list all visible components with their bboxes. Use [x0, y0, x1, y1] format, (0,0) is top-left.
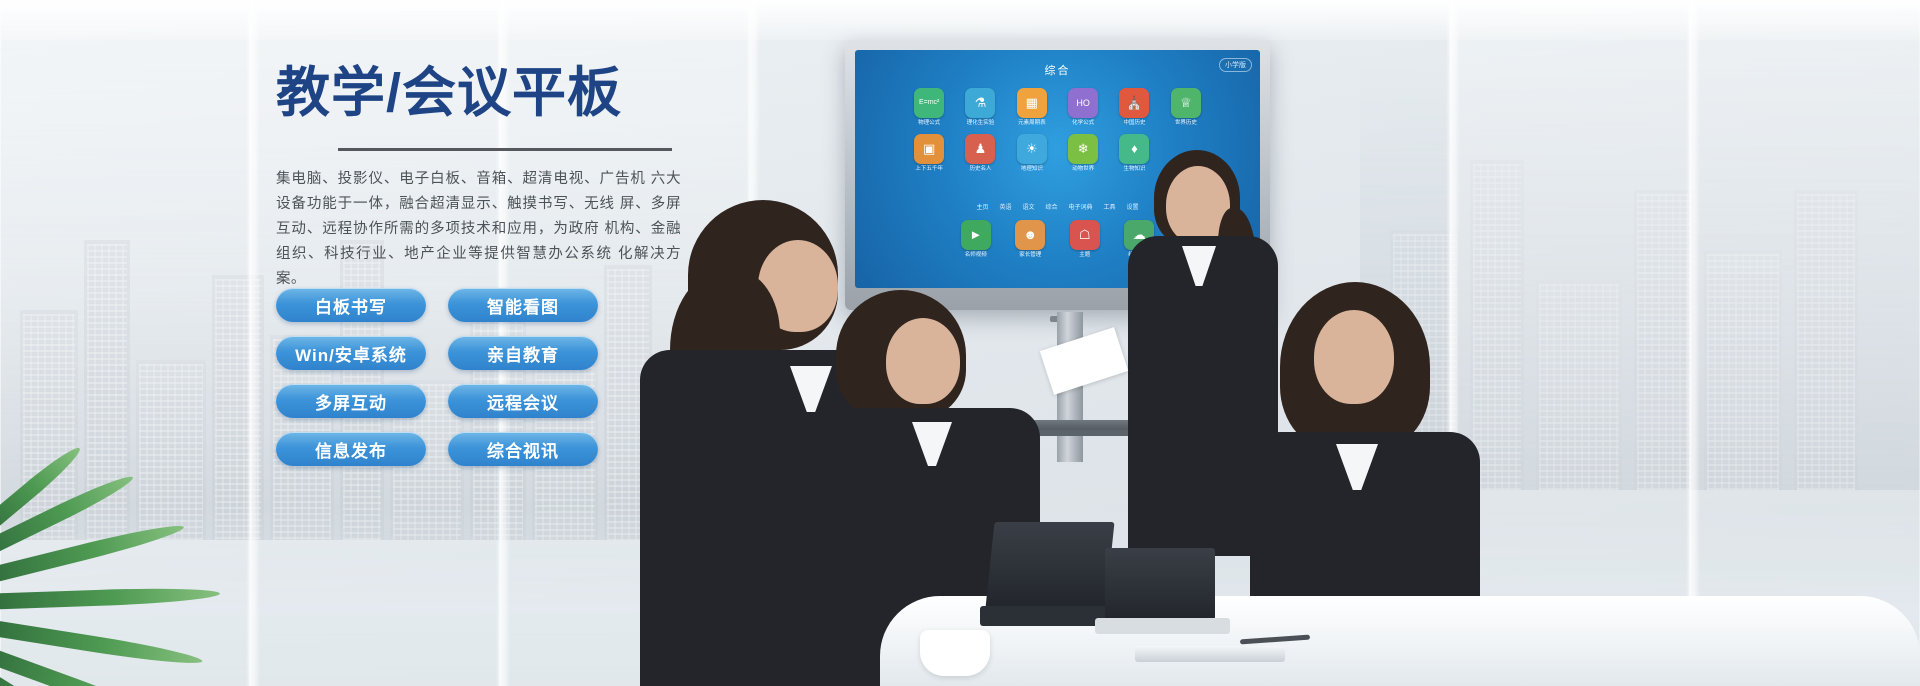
- app-icon-geography: ☀: [1017, 134, 1047, 164]
- feature-button-parent-education[interactable]: 亲自教育: [448, 336, 598, 370]
- coffee-cup: [920, 630, 990, 676]
- laptop-1: [985, 522, 1114, 608]
- page-title: 教学/会议平板: [276, 62, 696, 126]
- app-tile[interactable]: ❄ 动物世界: [1061, 134, 1104, 173]
- hero-text-block: 教学/会议平板 集电脑、投影仪、电子白板、音箱、超清电视、广告机 六大设备功能于…: [276, 62, 696, 292]
- app-label: 动物世界: [1061, 166, 1104, 173]
- feature-button-whiteboard-writing[interactable]: 白板书写: [276, 288, 426, 322]
- app-tile[interactable]: ⚗ 理化生实验: [959, 88, 1002, 127]
- app-tile[interactable]: ⛪ 中国历史: [1113, 88, 1156, 127]
- subnav-item-chinese[interactable]: 语文: [1022, 202, 1034, 211]
- app-tile[interactable]: ♟ 历史名人: [959, 134, 1002, 173]
- feature-button-remote-meeting[interactable]: 远程会议: [448, 384, 598, 418]
- app-icon-science-lab: ⚗: [965, 88, 995, 118]
- app-label: 元素周期表: [1010, 120, 1053, 127]
- app-icon-parent-control: ☻: [1015, 220, 1045, 250]
- foliage-plant: [0, 446, 300, 686]
- screen-version-badge: 小学版: [1219, 58, 1252, 72]
- notebook: [1135, 646, 1285, 662]
- feature-button-integrated-video[interactable]: 综合视讯: [448, 432, 598, 466]
- app-label: 化学公式: [1061, 120, 1104, 127]
- app-icon-chemistry-formula: HO: [1068, 88, 1098, 118]
- feature-button-win-android-os[interactable]: Win/安卓系统: [276, 336, 426, 370]
- app-icon-historical-figures: ♟: [965, 134, 995, 164]
- screen-title: 综合: [855, 62, 1260, 78]
- app-icon-physics-formula: E=mc²: [914, 88, 944, 118]
- app-icon-animal-world: ❄: [1068, 134, 1098, 164]
- app-label: 理化生实验: [959, 120, 1002, 127]
- glass-panel: [1690, 0, 1920, 686]
- app-icon-teacher-video: ►: [961, 220, 991, 250]
- feature-button-multiscreen[interactable]: 多屏互动: [276, 384, 426, 418]
- app-tile[interactable]: ▦ 元素周期表: [1010, 88, 1053, 127]
- app-tile[interactable]: HO 化学公式: [1061, 88, 1104, 127]
- glass-panel: [1450, 0, 1690, 686]
- app-tile[interactable]: ▣ 上下五千年: [908, 134, 951, 173]
- app-icon-theme: ☖: [1070, 220, 1100, 250]
- app-label: 世界历史: [1164, 120, 1207, 127]
- subnav-item-dictionary[interactable]: 电子词典: [1069, 202, 1093, 211]
- app-label: 地理知识: [1010, 166, 1053, 173]
- app-tile[interactable]: ☻ 家长管理: [1007, 220, 1054, 259]
- app-label: 中国历史: [1113, 120, 1156, 127]
- feature-button-grid[interactable]: 白板书写 智能看图 Win/安卓系统 亲自教育 多屏互动 远程会议 信息发布 综…: [276, 288, 598, 466]
- app-icon-world-history: ♕: [1171, 88, 1201, 118]
- app-tile[interactable]: E=mc² 物理公式: [908, 88, 951, 127]
- app-label: 家长管理: [1007, 252, 1054, 259]
- feature-button-info-publishing[interactable]: 信息发布: [276, 432, 426, 466]
- app-icon-periodic-table: ▦: [1017, 88, 1047, 118]
- app-label: 上下五千年: [908, 166, 951, 173]
- app-tile[interactable]: ☀ 地理知识: [1010, 134, 1053, 173]
- app-label: 历史名人: [959, 166, 1002, 173]
- subnav-item-general[interactable]: 综合: [1045, 202, 1057, 211]
- app-tile[interactable]: ♕ 世界历史: [1164, 88, 1207, 127]
- divider: [338, 148, 672, 151]
- app-tile[interactable]: ► 名师视频: [953, 220, 1000, 259]
- app-icon-five-thousand-years: ▣: [914, 134, 944, 164]
- app-icon-chinese-history: ⛪: [1119, 88, 1149, 118]
- app-label: 主题: [1062, 252, 1109, 259]
- hero-banner: 综合 小学版 E=mc² 物理公式 ⚗ 理化生实验 ▦ 元素周期表: [0, 0, 1920, 686]
- laptop-2-base: [1095, 618, 1230, 634]
- hero-description: 集电脑、投影仪、电子白板、音箱、超清电视、广告机 六大设备功能于一体，融合超清显…: [276, 167, 681, 292]
- laptop-2: [1105, 548, 1215, 620]
- feature-button-smart-image-view[interactable]: 智能看图: [448, 288, 598, 322]
- subnav-item-english[interactable]: 英语: [999, 202, 1011, 211]
- app-tile[interactable]: ☖ 主题: [1062, 220, 1109, 259]
- subnav-item-home[interactable]: 主页: [976, 202, 988, 211]
- app-label: 名师视频: [953, 252, 1000, 259]
- window-mullion: [1686, 0, 1700, 686]
- app-label: 物理公式: [908, 120, 951, 127]
